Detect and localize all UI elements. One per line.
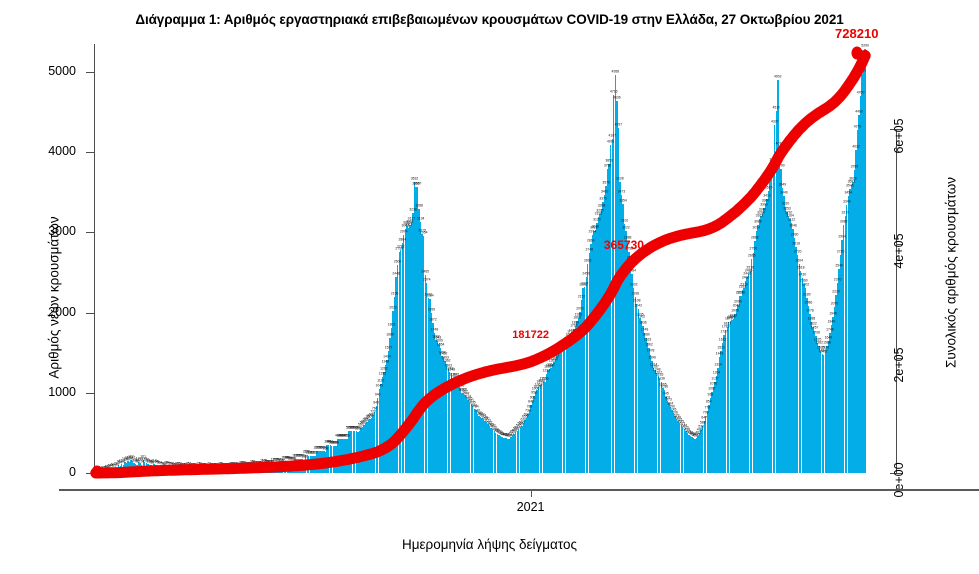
cumulative-endpoint-marker [851,46,862,59]
cumulative-annotation-label: 365730 [604,238,644,252]
x-axis-title: Ημερομηνία λήψης δείγματος [0,537,979,552]
bottom-axis-tick-label: 2021 [517,500,545,514]
annotation-layer: 181722365730728210 [0,0,979,574]
cumulative-annotation-label: 728210 [835,26,878,41]
bottom-axis-line [59,489,979,491]
cumulative-start-marker [92,466,102,477]
cumulative-annotation-label: 181722 [512,329,549,341]
bottom-axis-tick [531,490,532,497]
covid-cases-chart: Διάγραμμα 1: Αριθμός εργαστηριακά επιβεβ… [0,0,979,574]
